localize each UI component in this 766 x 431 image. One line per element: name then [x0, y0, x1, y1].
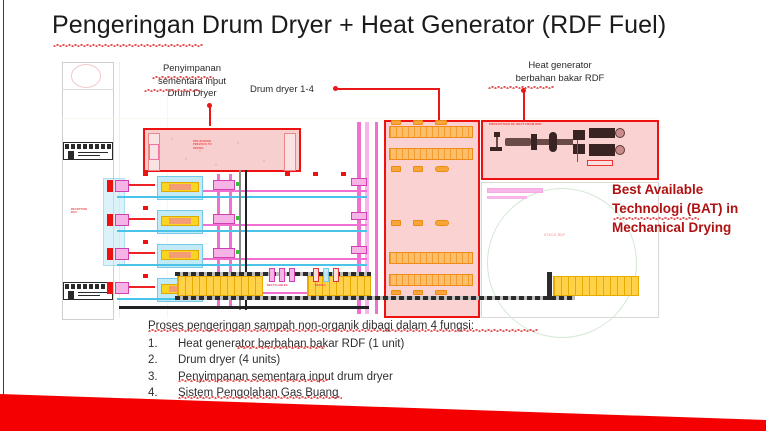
- leader-storage-v: [209, 107, 211, 126]
- spellcheck-underline-item1: [237, 346, 325, 349]
- spellcheck-underline-sementara: [144, 89, 202, 92]
- process-summary-intro: Proses pengeringan sampah non-organik di…: [148, 318, 568, 335]
- list-item-text: Drum dryer (4 units): [178, 352, 280, 369]
- bat-statement: Best Available Technologi (BAT) in Mecha…: [612, 180, 762, 237]
- list-item-text: Penyimpanan sementara input drum dryer: [178, 369, 393, 386]
- spellcheck-underline-item3: [178, 379, 328, 382]
- dryer-rack-2: [389, 148, 473, 160]
- reception-box-label: RECEPTION BOX: [71, 208, 97, 215]
- list-item-text: Heat generator berbahan bakar RDF (1 uni…: [178, 336, 404, 353]
- spellcheck-underline-intro: [148, 329, 538, 332]
- conveyor-hatch-right: [553, 276, 639, 296]
- conveyor-hatch-left: [177, 276, 263, 296]
- footer-banner: [0, 386, 766, 431]
- slide-left-border: [3, 0, 4, 404]
- list-item-number: 3.: [148, 369, 178, 386]
- list-item: 1. Heat generator berbahan bakar RDF (1 …: [148, 336, 568, 353]
- slide-canvas: Pengeringan Drum Dryer + Heat Generator …: [0, 0, 766, 431]
- plan-north-circle: [71, 64, 101, 88]
- dryer-rack-1: [389, 126, 473, 138]
- rdf-bunker-label: RDF BUNKER PREVIOUS TO DRYING: [193, 140, 263, 150]
- list-item: 3. Penyimpanan sementara input drum drye…: [148, 369, 568, 386]
- heat-generator-hall: [481, 120, 659, 180]
- stock-rdf-label: STOCK RDF: [544, 233, 565, 237]
- leader-storage-dot: [207, 103, 212, 108]
- heat-generator-hall-label: PRODUCTION OF HEAT FROM RDF: [489, 122, 649, 126]
- spellcheck-underline-title: [53, 44, 203, 47]
- reject-label: REJECT: [315, 284, 326, 287]
- titleblock-lower: [63, 282, 113, 300]
- callout-heat-generator: Heat generator berbahan bakar RDF: [480, 60, 640, 85]
- titleblock-upper: [63, 142, 113, 160]
- list-item-number: 1.: [148, 336, 178, 353]
- page-title: Pengeringan Drum Dryer + Heat Generator …: [52, 11, 666, 40]
- dryer-rack-3: [389, 252, 473, 264]
- recyclables-label: RECYCLABLES: [267, 284, 288, 287]
- callout-storage: Penyimpanan sementara input Drum Dryer: [142, 63, 242, 101]
- spellcheck-underline-technologi: [613, 217, 699, 220]
- leader-drum-v: [438, 88, 440, 120]
- list-item-number: 2.: [148, 352, 178, 369]
- leader-hg-v: [523, 91, 525, 120]
- spellcheck-underline-penyimpanan: [152, 76, 214, 79]
- dryer-rack-4: [389, 274, 473, 286]
- leader-drum-h: [336, 88, 440, 90]
- list-item: 2. Drum dryer (4 units): [148, 352, 568, 369]
